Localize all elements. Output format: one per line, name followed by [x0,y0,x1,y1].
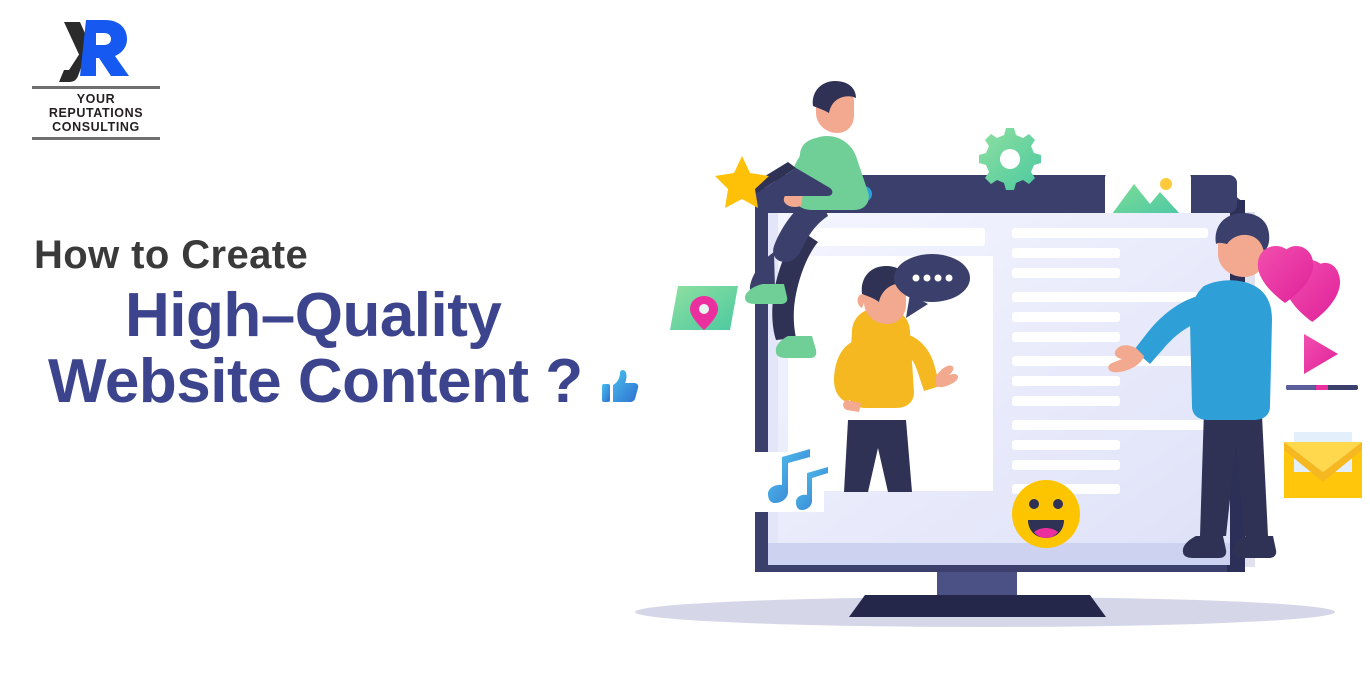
music-notes-icon [752,449,828,512]
screen-bottom-strip [768,543,1230,565]
envelope-icon [1284,432,1362,498]
website-content-illustration [600,80,1370,660]
video-title-bar [795,228,985,246]
smiley-icon [1012,480,1080,548]
logo-rule-bottom [32,137,160,140]
logo-company-name: YOUR REPUTATIONS CONSULTING [32,89,160,137]
gear-icon [979,128,1041,190]
brand-logo[interactable]: YOUR REPUTATIONS CONSULTING [20,14,170,124]
logo-wordmark: YOUR REPUTATIONS CONSULTING [32,86,160,140]
map-pin-icon [670,286,738,330]
logo-mark-yr-icon [20,14,170,86]
headline-line-3: Website Content ? [48,346,583,418]
logo-name-line1: YOUR REPUTATIONS [32,92,160,120]
logo-name-line2: CONSULTING [32,120,160,134]
poster-canvas: YOUR REPUTATIONS CONSULTING How to Creat… [0,0,1370,700]
image-icon [1105,172,1191,220]
play-icon [1286,334,1358,390]
monitor-base [849,595,1106,617]
